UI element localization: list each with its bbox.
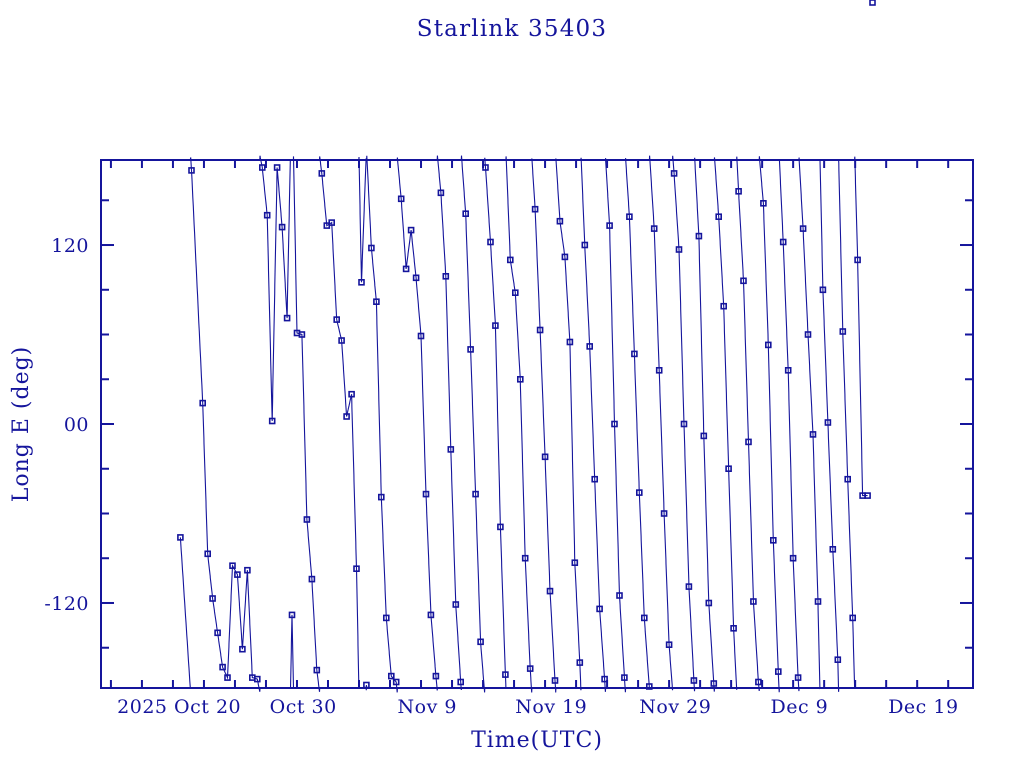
series-line bbox=[799, 158, 820, 689]
series-line bbox=[180, 537, 190, 688]
x-tick-label: Nov 19 bbox=[515, 696, 587, 718]
x-axis-title: Time(UTC) bbox=[471, 728, 603, 753]
chart-figure: Starlink 35403 12000-120 2025 Oct 20Oct … bbox=[0, 0, 1024, 768]
x-tick-label: 2025 Oct 20 bbox=[117, 696, 241, 718]
series-line bbox=[260, 156, 291, 421]
y-tick-label: 120 bbox=[51, 235, 89, 257]
y-tick-label: 00 bbox=[64, 414, 89, 436]
series-line bbox=[673, 156, 695, 691]
series-line bbox=[190, 157, 260, 691]
series-line bbox=[359, 157, 367, 282]
series-line bbox=[649, 156, 672, 691]
series-line bbox=[839, 160, 855, 688]
y-tick-label: -120 bbox=[44, 593, 89, 615]
series-line bbox=[855, 157, 868, 496]
series-line bbox=[461, 156, 485, 693]
series-line bbox=[605, 158, 625, 692]
series-line bbox=[320, 156, 360, 688]
plot-area: 12000-120 2025 Oct 20Oct 30Nov 9Nov 19No… bbox=[0, 0, 1024, 768]
y-axis-title: Long E (deg) bbox=[9, 346, 34, 503]
series-line bbox=[625, 158, 649, 689]
series-line bbox=[367, 156, 398, 693]
x-tick-label: Nov 9 bbox=[398, 696, 457, 718]
series-line bbox=[437, 156, 461, 690]
x-tick-label: Nov 29 bbox=[639, 696, 711, 718]
series-line bbox=[556, 159, 581, 691]
series-line bbox=[397, 158, 437, 691]
series-line bbox=[737, 157, 760, 691]
series-line bbox=[293, 156, 319, 691]
x-tick-label: Dec 19 bbox=[888, 696, 958, 718]
series-line bbox=[485, 158, 507, 689]
data-point-marker bbox=[870, 0, 875, 5]
x-axis-ticks bbox=[111, 160, 948, 688]
series-line bbox=[290, 615, 293, 689]
x-axis-tick-labels: 2025 Oct 20Oct 30Nov 9Nov 19Nov 29Dec 9D… bbox=[117, 696, 958, 718]
series-line bbox=[759, 156, 779, 692]
series-line bbox=[714, 157, 737, 689]
plot-frame bbox=[101, 160, 973, 688]
x-tick-label: Oct 30 bbox=[270, 696, 337, 718]
x-tick-label: Dec 9 bbox=[770, 696, 828, 718]
y-axis-tick-labels: 12000-120 bbox=[44, 235, 89, 615]
data-series-long-e bbox=[178, 0, 875, 693]
series-line bbox=[506, 156, 532, 692]
series-line bbox=[532, 159, 556, 693]
